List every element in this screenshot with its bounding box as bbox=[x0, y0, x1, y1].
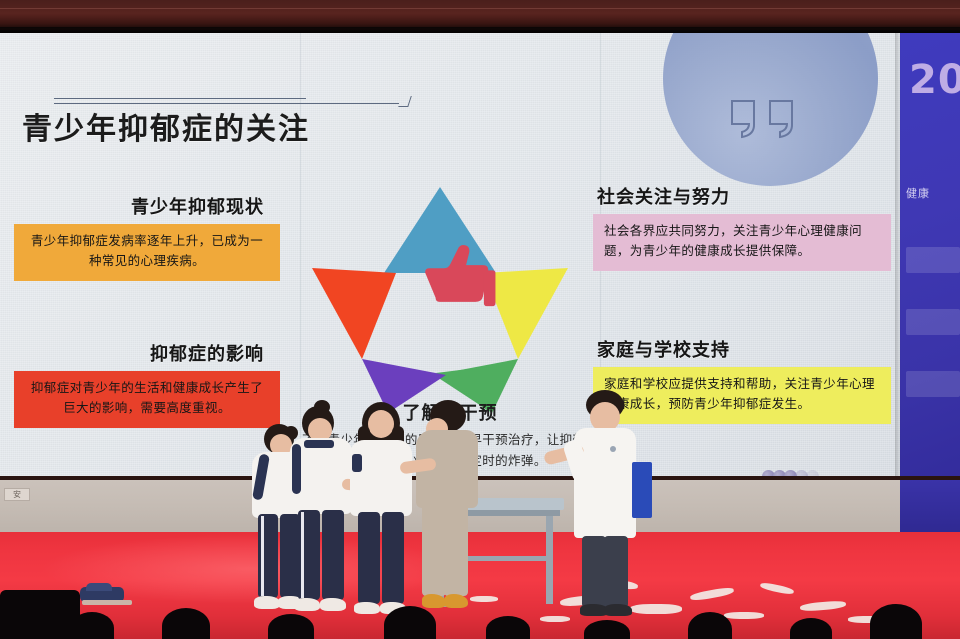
audience-head-3 bbox=[162, 608, 210, 639]
stage-back-wall-right bbox=[900, 480, 960, 532]
title-rule-1 bbox=[54, 98, 306, 99]
person-doctor bbox=[548, 390, 656, 614]
title-underline-decoration bbox=[22, 95, 422, 109]
teacher-leg-left bbox=[422, 504, 446, 596]
teacher-shoe-right bbox=[444, 594, 468, 608]
banner-year: 20 bbox=[909, 57, 960, 103]
side-banner: 20 健康 bbox=[900, 33, 960, 480]
card-status-heading: 青少年抑郁现状 bbox=[14, 193, 280, 219]
slide-title-block: 青少年抑郁症的关注 bbox=[22, 95, 422, 148]
audience-head-6 bbox=[486, 616, 530, 639]
student-2-shoe-left bbox=[294, 598, 320, 611]
wall-sign: 安 bbox=[4, 488, 30, 501]
card-status: 青少年抑郁现状 青少年抑郁症发病率逐年上升，已成为一种常见的心理疾病。 bbox=[14, 193, 280, 281]
audience-head-8 bbox=[688, 612, 732, 639]
card-status-body: 青少年抑郁症发病率逐年上升，已成为一种常见的心理疾病。 bbox=[14, 224, 280, 281]
doctor-leg-right bbox=[604, 536, 628, 608]
backpack-prop bbox=[80, 583, 136, 605]
student-3-leg-left bbox=[358, 512, 380, 604]
teacher-leg-right bbox=[444, 504, 468, 596]
banner-bar-3 bbox=[906, 371, 960, 397]
student-3-face bbox=[368, 410, 394, 438]
paper-9 bbox=[540, 616, 570, 622]
paper-5 bbox=[724, 612, 764, 619]
student-1-shoe-left bbox=[254, 596, 280, 609]
student-3-shoe-left bbox=[354, 602, 380, 614]
student-2-collar bbox=[304, 440, 334, 448]
doctor-badge-icon bbox=[610, 446, 616, 452]
student-2-bun bbox=[314, 400, 330, 414]
student-2-pant-stripe bbox=[301, 512, 304, 598]
audience-head-5 bbox=[384, 606, 436, 639]
star-segment-top bbox=[384, 187, 496, 273]
card-impact-heading: 抑郁症的影响 bbox=[14, 340, 280, 366]
doctor-coat bbox=[574, 428, 636, 538]
banner-edge-shadow bbox=[895, 33, 901, 480]
chevron-right-icon bbox=[398, 96, 412, 107]
card-society-body: 社会各界应共同努力，关注青少年心理健康问题，为青少年的健康成长提供保障。 bbox=[593, 214, 891, 271]
audience-head-10 bbox=[870, 604, 922, 639]
doctor-leg-left bbox=[582, 536, 606, 608]
doctor-folder bbox=[632, 462, 652, 518]
banner-bar-1 bbox=[906, 247, 960, 273]
quote-mark-icon bbox=[724, 95, 808, 141]
five-point-star-graphic bbox=[306, 173, 574, 423]
page-title: 青少年抑郁症的关注 bbox=[22, 113, 422, 148]
card-society: 社会关注与努力 社会各界应共同努力，关注青少年心理健康问题，为青少年的健康成长提… bbox=[593, 183, 891, 271]
title-rule-2 bbox=[54, 103, 399, 104]
doctor-shoe-right bbox=[604, 604, 632, 616]
star-segment-right bbox=[484, 268, 568, 359]
star-segment-left bbox=[312, 268, 396, 359]
teacher-shoe-left bbox=[422, 594, 446, 608]
student-3-leg-right bbox=[382, 512, 404, 604]
card-society-heading: 社会关注与努力 bbox=[593, 183, 891, 209]
student-3-shirt bbox=[350, 440, 412, 516]
audience-block-left bbox=[0, 590, 80, 639]
audience-head-4 bbox=[268, 614, 314, 639]
audience-head-7 bbox=[584, 620, 630, 639]
card-impact: 抑郁症的影响 抑郁症对青少年的生活和健康成长产生了巨大的影响，需要高度重视。 bbox=[14, 340, 280, 428]
student-2-stripe bbox=[292, 444, 301, 494]
audience-head-9 bbox=[790, 618, 832, 639]
student-2-shoe-right bbox=[320, 598, 346, 611]
student-2-leg-right bbox=[322, 510, 344, 600]
screenshot-root: 青少年抑郁症的关注 bbox=[0, 0, 960, 639]
person-teacher bbox=[404, 400, 490, 612]
student-3-sleeve-trim bbox=[352, 454, 362, 472]
banner-text: 健康 bbox=[906, 185, 930, 201]
card-impact-body: 抑郁症对青少年的生活和健康成长产生了巨大的影响，需要高度重视。 bbox=[14, 371, 280, 428]
banner-bar-2 bbox=[906, 309, 960, 335]
student-1-pant-stripe bbox=[261, 516, 264, 596]
auditorium-ceiling bbox=[0, 0, 960, 30]
card-family-heading: 家庭与学校支持 bbox=[593, 336, 891, 362]
